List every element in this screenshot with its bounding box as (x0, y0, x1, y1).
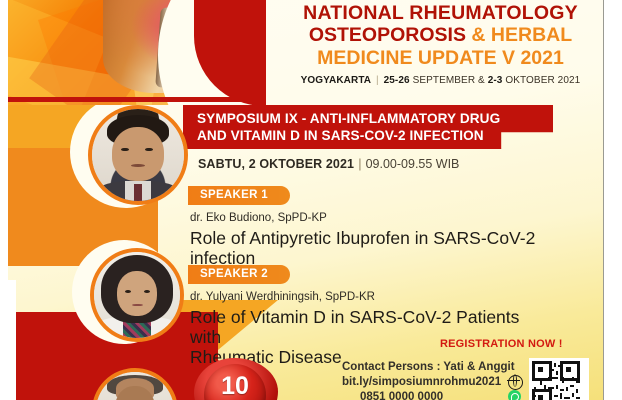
title-line-1: NATIONAL RHEUMATOLOGY (272, 2, 604, 24)
portrait-eye-left (121, 148, 128, 152)
hero-knee-bone-artwork (8, 0, 266, 105)
registration-link[interactable]: bit.ly/simposiumnrohmu2021 (342, 376, 501, 388)
session-day-date: SABTU, 2 OKTOBER 2021 (198, 157, 354, 171)
portrait-eye-right (144, 290, 150, 293)
speaker-1-avatar (88, 105, 188, 205)
speaker-1-name: dr. Eko Budiono, SpPD-KP (190, 212, 327, 224)
portrait-eye-right (145, 148, 152, 152)
poster-title-block: NATIONAL RHEUMATOLOGY OSTEOPOROSIS & HER… (266, 0, 604, 86)
title-subline: YOGYAKARTA | 25-26 SEPTEMBER & 2-3 OKTOB… (272, 75, 604, 86)
speaker-2-name: dr. Yulyani Werdhiningsih, SpPD-KR (190, 291, 375, 303)
event-month-1: SEPTEMBER (413, 75, 476, 86)
speaker-3-avatar (92, 368, 178, 400)
event-city: YOGYAKARTA (301, 75, 371, 86)
whatsapp-icon (508, 390, 521, 400)
speaker-1-talk-title: Role of Antipyretic Ibuprofen in SARS-Co… (190, 228, 603, 268)
seminar-poster: NATIONAL RHEUMATOLOGY OSTEOPOROSIS & HER… (8, 0, 604, 400)
speaker-2-portrait (94, 252, 180, 338)
title-osteoporosis: OSTEOPOROSIS (309, 24, 466, 46)
globe-icon (508, 375, 523, 390)
wax-seal-number: 10 (204, 372, 266, 400)
session-schedule: SABTU, 2 OKTOBER 2021|09.00-09.55 WIB (198, 157, 459, 171)
speaker-3-portrait (96, 372, 174, 400)
title-herbal: HERBAL (491, 24, 572, 46)
speaker-2-avatar (90, 248, 184, 342)
qr-code-matrix (532, 361, 580, 400)
event-dates-2: 2-3 (488, 75, 503, 86)
portrait-face (117, 271, 157, 316)
symposium-banner-text: SYMPOSIUM IX - ANTI-INFLAMMATORY DRUG AN… (197, 111, 533, 144)
title-line-2: OSTEOPOROSIS & HERBAL (272, 24, 604, 47)
speaker-2-pill: SPEAKER 2 (188, 265, 290, 284)
title-ampersand: & (471, 24, 485, 46)
registration-cta: REGISTRATION NOW ! (440, 338, 563, 350)
left-white-margin (8, 280, 16, 400)
right-white-gutter (604, 0, 622, 400)
contact-phone: 0851 0000 0000 (360, 391, 443, 400)
contact-persons: Contact Persons : Yati & Anggit (342, 361, 515, 373)
qr-code[interactable] (529, 358, 589, 400)
event-dates-1: 25-26 (384, 75, 410, 86)
screenshot-canvas: NATIONAL RHEUMATOLOGY OSTEOPOROSIS & HER… (0, 0, 622, 400)
symposium-title-line-1: SYMPOSIUM IX - ANTI-INFLAMMATORY DRUG (197, 111, 533, 128)
schedule-separator: | (354, 157, 366, 171)
portrait-tie (134, 184, 141, 202)
portrait-mouth (132, 304, 143, 307)
symposium-title-line-2: AND VITAMIN D IN SARS-COV-2 INFECTION (197, 128, 533, 145)
portrait-face (112, 127, 164, 180)
header-red-rule (8, 97, 266, 102)
title-line-3: MEDICINE UPDATE V 2021 (272, 47, 604, 70)
session-time: 09.00-09.55 WIB (366, 157, 460, 171)
subline-separator: | (374, 75, 381, 86)
event-month-2: OKTOBER 2021 (505, 75, 580, 86)
dates-ampersand: & (478, 75, 485, 86)
symposium-banner: SYMPOSIUM IX - ANTI-INFLAMMATORY DRUG AN… (183, 105, 553, 149)
speaker-1-portrait (92, 109, 184, 201)
speaker-1-pill: SPEAKER 1 (188, 186, 290, 205)
portrait-eye-left (125, 290, 131, 293)
